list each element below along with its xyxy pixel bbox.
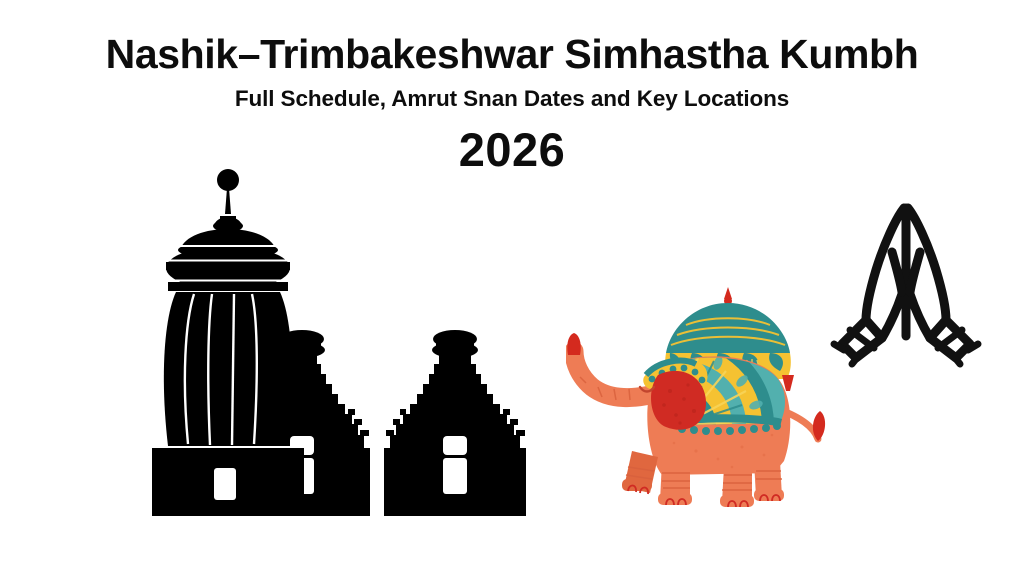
main-temple-doorway xyxy=(214,468,236,500)
elephant-illustration xyxy=(566,275,846,533)
right-thumb-line xyxy=(910,252,920,292)
left-thumb-line xyxy=(892,252,902,292)
right-sleeve-cuff xyxy=(930,320,978,364)
poster-canvas: Nashik–Trimbakeshwar Simhastha Kumbh Ful… xyxy=(0,0,1024,576)
page-title: Nashik–Trimbakeshwar Simhastha Kumbh xyxy=(0,0,1024,78)
left-sleeve-cuff xyxy=(834,320,882,364)
main-shikhara xyxy=(164,169,292,446)
amalaka-dome xyxy=(166,229,290,291)
main-temple-base xyxy=(150,446,306,516)
page-subtitle: Full Schedule, Amrut Snan Dates and Key … xyxy=(0,78,1024,112)
parasol-finial xyxy=(724,287,732,305)
small-shrine-right xyxy=(384,330,526,516)
small-shrine-right-doorway xyxy=(443,436,467,494)
temple-illustration xyxy=(140,158,572,533)
kalash-finial xyxy=(213,169,243,232)
title-block: Nashik–Trimbakeshwar Simhastha Kumbh Ful… xyxy=(0,0,1024,174)
namaste-illustration xyxy=(826,196,986,376)
